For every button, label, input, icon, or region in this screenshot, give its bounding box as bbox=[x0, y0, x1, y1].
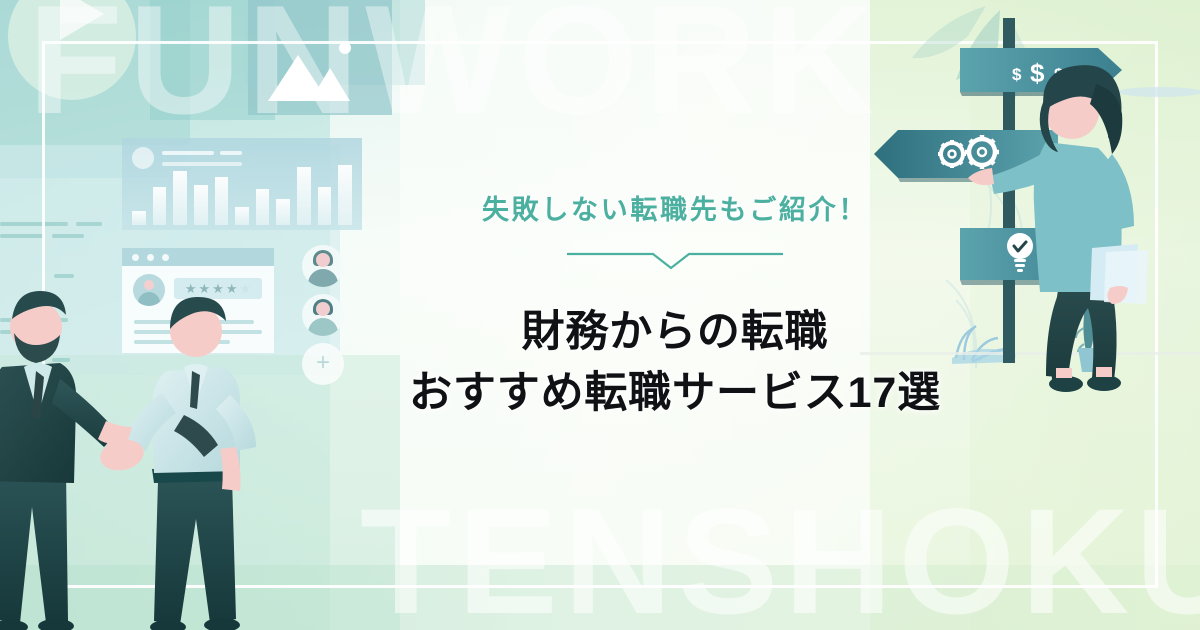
title-line-1: 財務からの転職 bbox=[150, 302, 1200, 363]
hero-copy: 失敗しない転職先もご紹介！ 財務からの転職 おすすめ転職サービス17選 bbox=[0, 188, 1200, 424]
card-text-line bbox=[220, 151, 242, 155]
title-line-2: おすすめ転職サービス17選 bbox=[150, 363, 1200, 424]
page-title: 財務からの転職 おすすめ転職サービス17選 bbox=[150, 302, 1200, 424]
hero-subtitle: 失敗しない転職先もご紹介！ bbox=[150, 188, 1200, 227]
notched-divider bbox=[567, 249, 783, 271]
hero-banner: FUNWORK TENSHOKU ★★★★★ bbox=[0, 0, 1200, 630]
svg-text:$: $ bbox=[1012, 65, 1022, 84]
svg-text:$: $ bbox=[1030, 58, 1045, 88]
card-text-line bbox=[162, 151, 214, 155]
cloud-streak bbox=[1118, 87, 1200, 97]
